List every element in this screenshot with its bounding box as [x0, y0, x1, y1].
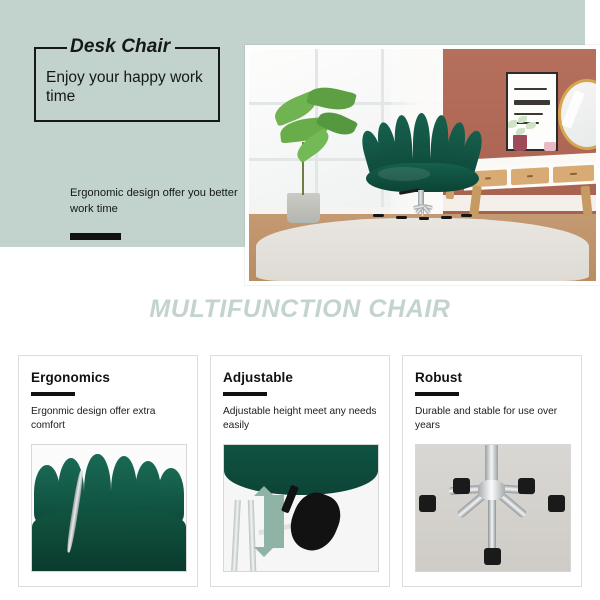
rug: [256, 218, 589, 281]
hero-headline: Enjoy your happy work time: [46, 68, 210, 106]
card-photo-robust: [415, 444, 571, 572]
section-banner: MULTIFUNCTION CHAIR: [0, 295, 600, 324]
page-title: Desk Chair: [70, 36, 170, 58]
hero-note: Ergonomic design offer you better work t…: [70, 186, 242, 217]
card-title: Robust: [415, 370, 569, 385]
room-scene: [249, 49, 596, 281]
feature-card-ergonomics[interactable]: Ergonomics Ergonmic design offer extra c…: [18, 355, 198, 587]
title-box: Desk Chair Enjoy your happy work time: [34, 36, 220, 122]
chair-base: [373, 205, 472, 219]
card-title: Adjustable: [223, 370, 377, 385]
vase: [513, 135, 527, 151]
seat-highlight: [378, 167, 430, 180]
desk-chair: [364, 112, 482, 223]
card-photo-adjustable: [223, 444, 379, 572]
card-description: Adjustable height meet any needs easily: [223, 405, 377, 435]
plant-pot: [287, 193, 320, 223]
hero-copy-block: Desk Chair Enjoy your happy work time Er…: [34, 36, 220, 122]
feature-cards: Ergonomics Ergonmic design offer extra c…: [18, 355, 582, 587]
card-rule: [415, 392, 459, 396]
card-description: Durable and stable for use over years: [415, 405, 569, 435]
cosmetic-jar: [544, 142, 556, 151]
accent-bar: [70, 233, 121, 240]
card-rule: [31, 392, 75, 396]
card-rule: [223, 392, 267, 396]
product-infographic: Desk Chair Enjoy your happy work time Er…: [0, 0, 600, 600]
up-down-arrow-icon: [264, 495, 284, 548]
hero-photo: [245, 45, 600, 285]
feature-card-robust[interactable]: Robust Durable and stable for use over y…: [402, 355, 582, 587]
feature-card-adjustable[interactable]: Adjustable Adjustable height meet any ne…: [210, 355, 390, 587]
card-description: Ergonmic design offer extra comfort: [31, 405, 185, 435]
card-title: Ergonomics: [31, 370, 185, 385]
card-photo-ergonomics: [31, 444, 187, 572]
